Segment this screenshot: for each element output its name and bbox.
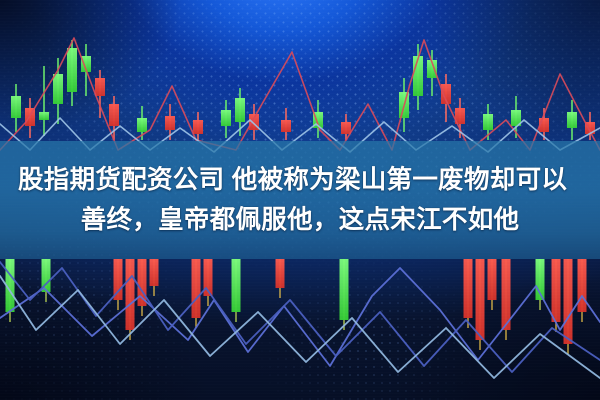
upper-candlestick-group <box>11 40 595 140</box>
stock-news-banner: 股指期货配资公司 他被称为梁山第一废物却可以 善终，皇帝都佩服他，这点宋江不如他 <box>0 0 600 400</box>
headline-line-1: 股指期货配资公司 他被称为梁山第一废物却可以 <box>8 160 567 200</box>
upper-trendline-group <box>0 38 600 152</box>
headline-overlay-band: 股指期货配资公司 他被称为梁山第一废物却可以 善终，皇帝都佩服他，这点宋江不如他 <box>0 141 600 259</box>
headline-line-2: 善终，皇帝都佩服他，这点宋江不如他 <box>81 200 520 240</box>
